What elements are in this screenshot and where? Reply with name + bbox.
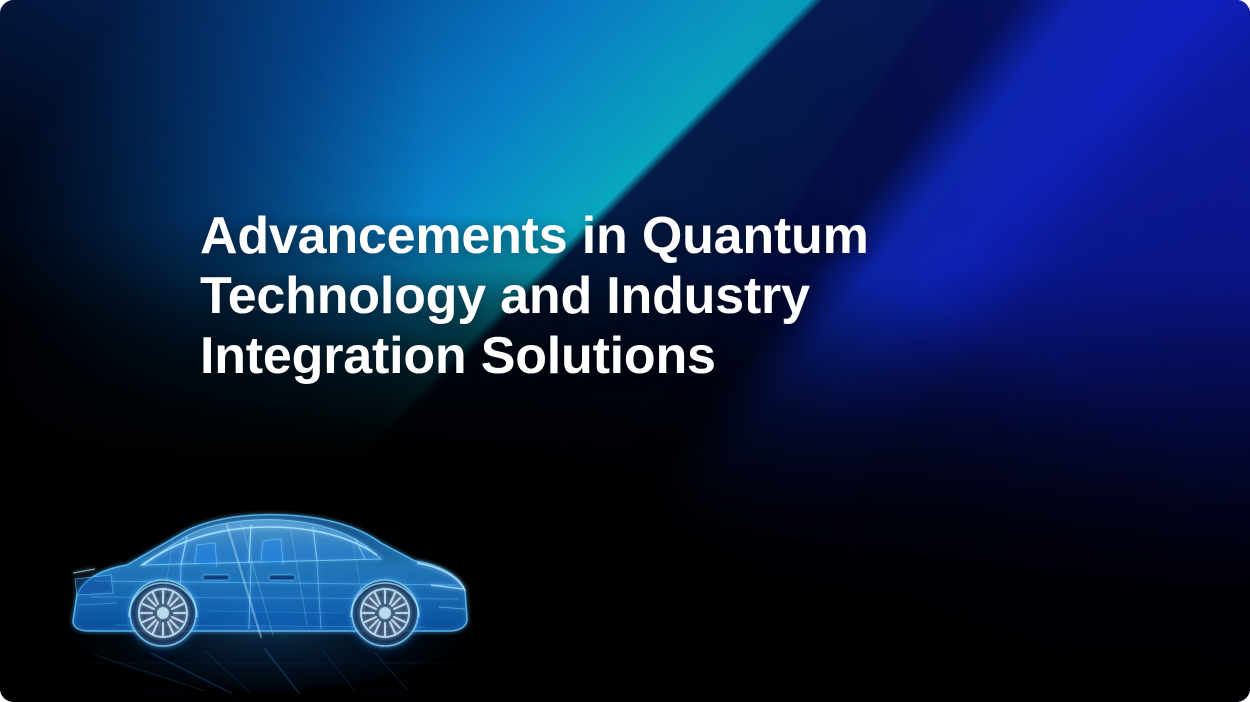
front-wheel [352,580,418,646]
xray-car-svg [55,505,485,695]
title-line-1: Advancements in Quantum [200,207,869,265]
title-line-3: Integration Solutions [200,327,716,385]
slide-root: Advancements in QuantumTechnology and In… [0,0,1250,702]
title-line-2: Technology and Industry [200,267,810,325]
title-block: Advancements in QuantumTechnology and In… [200,206,920,386]
page-title: Advancements in QuantumTechnology and In… [200,206,920,386]
slide-surface: Advancements in QuantumTechnology and In… [0,0,1250,702]
rear-wheel [130,580,196,646]
xray-car-image [55,505,485,695]
